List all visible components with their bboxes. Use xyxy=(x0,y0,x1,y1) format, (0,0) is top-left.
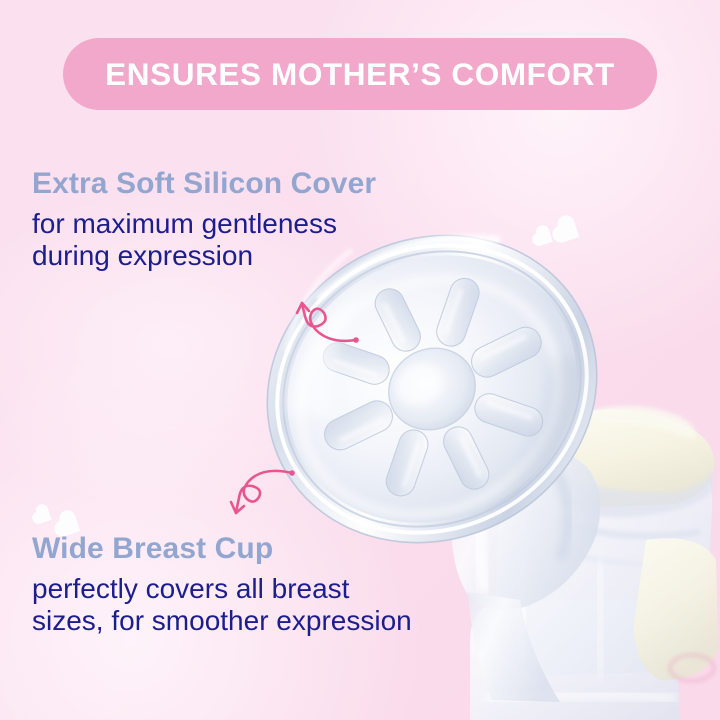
feature-title: Extra Soft Silicon Cover xyxy=(32,168,376,200)
feature-block-silicon-cover: Extra Soft Silicon Cover for maximum gen… xyxy=(32,168,376,273)
headline-banner: ENSURES MOTHER’S COMFORT xyxy=(63,38,657,110)
feature-body: for maximum gentleness during expression xyxy=(32,208,376,274)
headline-text: ENSURES MOTHER’S COMFORT xyxy=(105,56,615,93)
feature-body: perfectly covers all breast sizes, for s… xyxy=(32,573,412,639)
feature-block-wide-breast-cup: Wide Breast Cup perfectly covers all bre… xyxy=(32,533,412,638)
feature-title: Wide Breast Cup xyxy=(32,533,412,565)
product-feature-image: ENSURES MOTHER’S COMFORT Extra Soft Sili… xyxy=(0,0,720,720)
